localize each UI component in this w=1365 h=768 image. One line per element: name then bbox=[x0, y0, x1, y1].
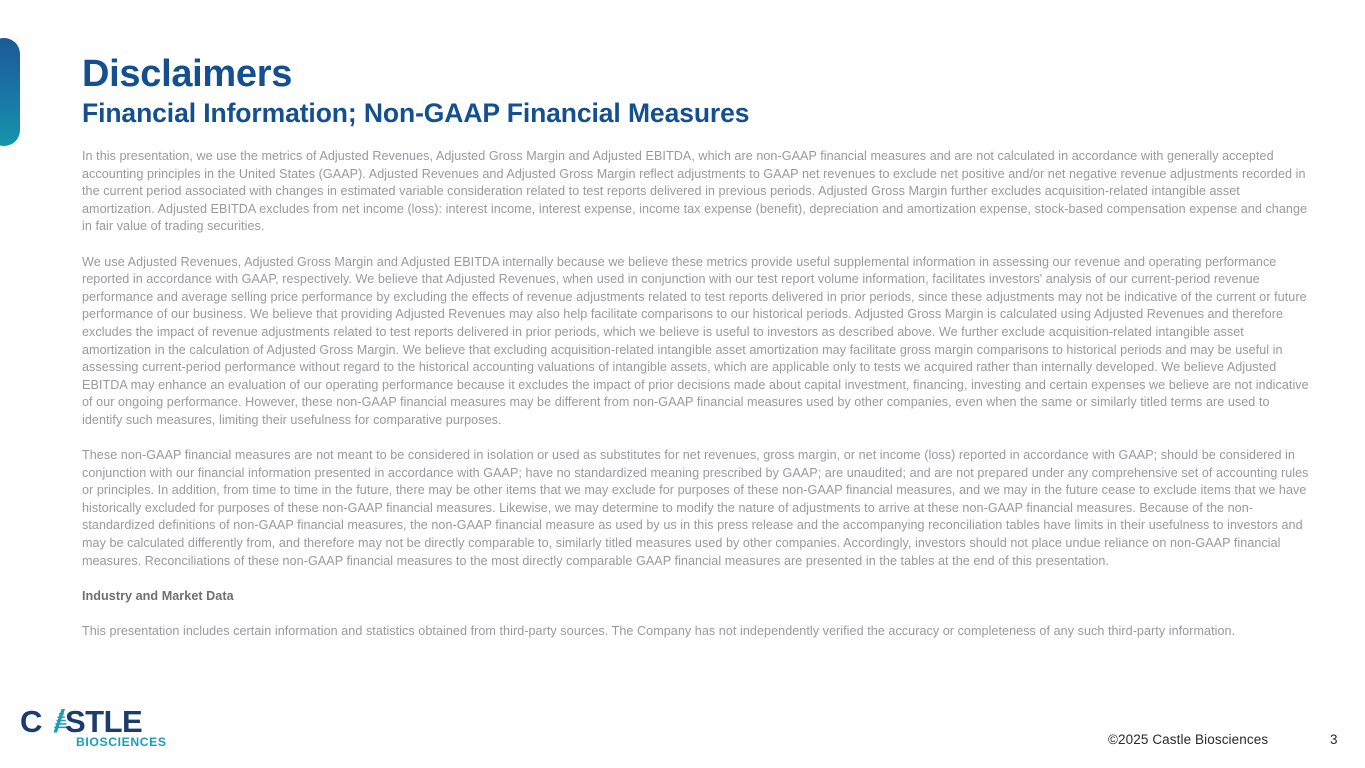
title-block: Disclaimers Financial Information; Non-G… bbox=[82, 54, 1322, 130]
logo-letters-stle: STLE bbox=[65, 705, 142, 739]
disclaimer-paragraph: We use Adjusted Revenues, Adjusted Gross… bbox=[82, 254, 1312, 430]
footer-page-number: 3 bbox=[1330, 732, 1338, 747]
slide-canvas: Disclaimers Financial Information; Non-G… bbox=[0, 0, 1365, 768]
disclaimer-paragraph: In this presentation, we use the metrics… bbox=[82, 148, 1312, 236]
body-copy: In this presentation, we use the metrics… bbox=[82, 148, 1312, 641]
page-subtitle: Financial Information; Non-GAAP Financia… bbox=[82, 98, 1322, 129]
logo-tagline: BIOSCIENCES bbox=[76, 735, 167, 749]
page-title: Disclaimers bbox=[82, 54, 1322, 94]
industry-market-data-paragraph: This presentation includes certain infor… bbox=[82, 623, 1312, 641]
left-accent-bar bbox=[0, 38, 20, 146]
footer-copyright: ©2025 Castle Biosciences bbox=[1108, 732, 1268, 747]
logo-letter-c: C bbox=[20, 705, 42, 739]
castle-biosciences-logo: C STLE BIOSCIENCES bbox=[20, 705, 172, 751]
section-heading-industry-market-data: Industry and Market Data bbox=[82, 588, 1312, 606]
disclaimer-paragraph: These non-GAAP financial measures are no… bbox=[82, 447, 1312, 570]
